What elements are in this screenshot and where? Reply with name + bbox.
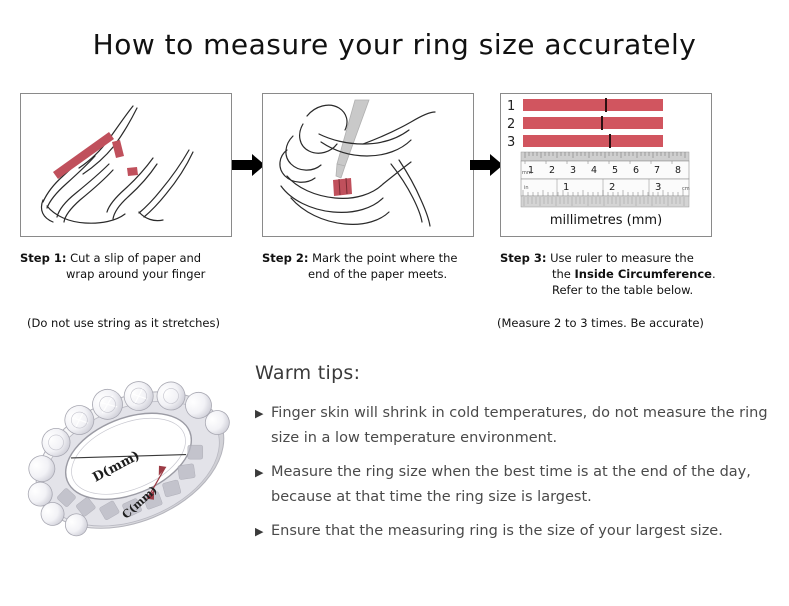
svg-text:7: 7 bbox=[654, 165, 660, 176]
step-1-line-1: Cut a slip of paper and bbox=[70, 251, 201, 265]
ring-diagram-photo: D(mm) C(mm) bbox=[14, 352, 246, 568]
step-3-line-3: Refer to the table below. bbox=[500, 282, 775, 298]
step-1-line-2: wrap around your finger bbox=[20, 266, 250, 282]
svg-text:8: 8 bbox=[675, 165, 681, 176]
strip-number-3: 3 bbox=[507, 135, 515, 150]
svg-text:2: 2 bbox=[609, 182, 615, 193]
warm-tip-text: Measure the ring size when the best time… bbox=[271, 460, 775, 510]
step-3-line-2: the Inside Circumference. bbox=[500, 266, 775, 282]
hand-marking-paper-with-pen-illustration bbox=[263, 94, 473, 236]
inside-circumference-emphasis: Inside Circumference bbox=[575, 267, 712, 281]
step-2-line-2: end of the paper meets. bbox=[262, 266, 487, 282]
warm-tip-item: ▶ Ensure that the measuring ring is the … bbox=[255, 519, 775, 544]
step-3-label: Step 3: bbox=[500, 251, 546, 265]
triangle-bullet-icon: ▶ bbox=[255, 460, 271, 485]
step-1-image-panel bbox=[20, 93, 232, 237]
step-3-note: (Measure 2 to 3 times. Be accurate) bbox=[497, 316, 704, 330]
ruler: 1 2 3 4 5 6 7 8 mm 1 2 3 bbox=[521, 152, 690, 207]
step-2-image-panel bbox=[262, 93, 474, 237]
warm-tip-text: Ensure that the measuring ring is the si… bbox=[271, 519, 775, 544]
warm-tips-heading: Warm tips: bbox=[255, 362, 775, 384]
step-1-caption: Step 1: Cut a slip of paper and wrap aro… bbox=[20, 250, 250, 282]
strip-number-1: 1 bbox=[507, 99, 515, 114]
svg-text:mm: mm bbox=[522, 170, 532, 176]
warm-tip-text: Finger skin will shrink in cold temperat… bbox=[271, 401, 775, 451]
step-3-caption: Step 3: Use ruler to measure the the Ins… bbox=[500, 250, 775, 298]
svg-text:3: 3 bbox=[655, 182, 661, 193]
arrow-step2-to-step3 bbox=[470, 152, 504, 178]
arrow-step1-to-step2 bbox=[232, 152, 266, 178]
step-3-line-2-pre: the bbox=[552, 267, 575, 281]
triangle-bullet-icon: ▶ bbox=[255, 519, 271, 544]
ruler-caption: millimetres (mm) bbox=[550, 213, 662, 228]
warm-tip-item: ▶ Measure the ring size when the best ti… bbox=[255, 460, 775, 510]
triangle-bullet-icon: ▶ bbox=[255, 401, 271, 426]
warm-tips-section: Warm tips: ▶ Finger skin will shrink in … bbox=[255, 362, 775, 553]
hand-with-paper-strip-illustration bbox=[21, 94, 231, 236]
svg-text:6: 6 bbox=[633, 165, 639, 176]
step-3-image-panel: 1 2 3 bbox=[500, 93, 712, 237]
step-2-label: Step 2: bbox=[262, 251, 308, 265]
step-1-label: Step 1: bbox=[20, 251, 66, 265]
svg-text:5: 5 bbox=[612, 165, 618, 176]
warm-tip-item: ▶ Finger skin will shrink in cold temper… bbox=[255, 401, 775, 451]
paper-strips bbox=[523, 98, 663, 148]
step-2-line-1: Mark the point where the bbox=[312, 251, 457, 265]
svg-text:4: 4 bbox=[591, 165, 597, 176]
page-title: How to measure your ring size accurately bbox=[0, 28, 789, 61]
step-3-line-1: Use ruler to measure the bbox=[550, 251, 694, 265]
svg-text:2: 2 bbox=[549, 165, 555, 176]
step-1-note: (Do not use string as it stretches) bbox=[27, 316, 220, 330]
step-3-line-2-post: . bbox=[712, 267, 716, 281]
ring-size-guide-page: How to measure your ring size accurately bbox=[0, 0, 789, 606]
svg-text:1: 1 bbox=[563, 182, 569, 193]
strip-number-2: 2 bbox=[507, 117, 515, 132]
ruler-with-paper-strips-illustration: 1 2 3 bbox=[501, 94, 711, 236]
svg-text:in: in bbox=[524, 185, 529, 191]
step-2-caption: Step 2: Mark the point where the end of … bbox=[262, 250, 487, 282]
svg-text:3: 3 bbox=[570, 165, 576, 176]
